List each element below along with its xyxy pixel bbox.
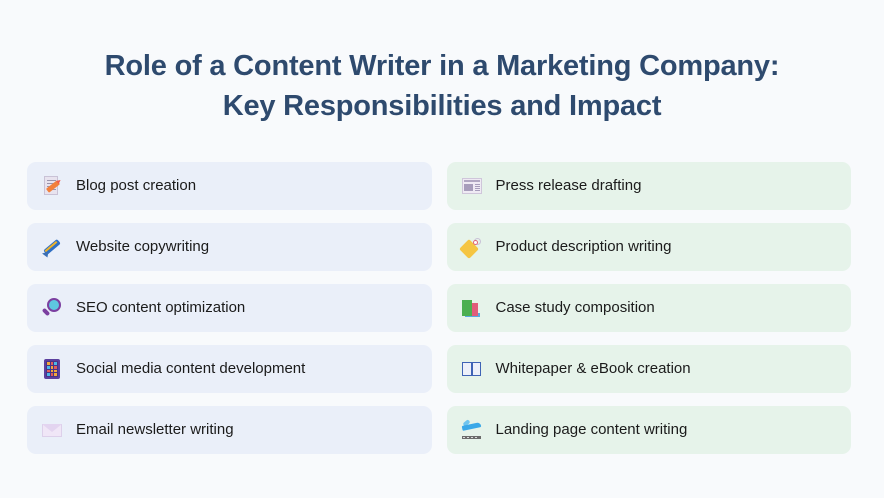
responsibility-card[interactable]: Email newsletter writing: [27, 406, 432, 454]
right-column: Press release draftingProduct descriptio…: [447, 162, 852, 454]
responsibility-card[interactable]: Landing page content writing: [447, 406, 852, 454]
memo-pencil-icon: [40, 174, 64, 198]
newspaper-icon: [460, 174, 484, 198]
responsibility-card[interactable]: Social media content development: [27, 345, 432, 393]
pen-icon: [40, 235, 64, 259]
page-title-line-2: Key Responsibilities and Impact: [0, 86, 884, 126]
magnifying-glass-icon: [40, 296, 64, 320]
infographic-page: Role of a Content Writer in a Marketing …: [0, 0, 884, 498]
responsibility-label: Email newsletter writing: [76, 421, 234, 439]
page-title: Role of a Content Writer in a Marketing …: [0, 0, 884, 126]
page-title-line-1: Role of a Content Writer in a Marketing …: [0, 46, 884, 86]
open-book-icon: [460, 357, 484, 381]
responsibility-label: Whitepaper & eBook creation: [496, 360, 691, 378]
responsibility-label: Social media content development: [76, 360, 305, 378]
responsibility-card[interactable]: Case study composition: [447, 284, 852, 332]
app-grid-icon: [40, 357, 64, 381]
responsibility-card[interactable]: Website copywriting: [27, 223, 432, 271]
stacked-books-icon: [460, 296, 484, 320]
label-tag-icon: [460, 235, 484, 259]
left-column: Blog post creationWebsite copywritingSEO…: [27, 162, 432, 454]
responsibility-label: SEO content optimization: [76, 299, 245, 317]
responsibility-label: Case study composition: [496, 299, 655, 317]
responsibility-card[interactable]: SEO content optimization: [27, 284, 432, 332]
responsibility-card[interactable]: Whitepaper & eBook creation: [447, 345, 852, 393]
envelope-icon: [40, 418, 64, 442]
responsibility-columns: Blog post creationWebsite copywritingSEO…: [27, 162, 851, 454]
responsibility-label: Press release drafting: [496, 177, 642, 195]
responsibility-label: Blog post creation: [76, 177, 196, 195]
responsibility-label: Landing page content writing: [496, 421, 688, 439]
responsibility-card[interactable]: Product description writing: [447, 223, 852, 271]
airplane-landing-icon: [460, 418, 484, 442]
responsibility-card[interactable]: Press release drafting: [447, 162, 852, 210]
responsibility-card[interactable]: Blog post creation: [27, 162, 432, 210]
responsibility-label: Website copywriting: [76, 238, 209, 256]
responsibility-label: Product description writing: [496, 238, 672, 256]
